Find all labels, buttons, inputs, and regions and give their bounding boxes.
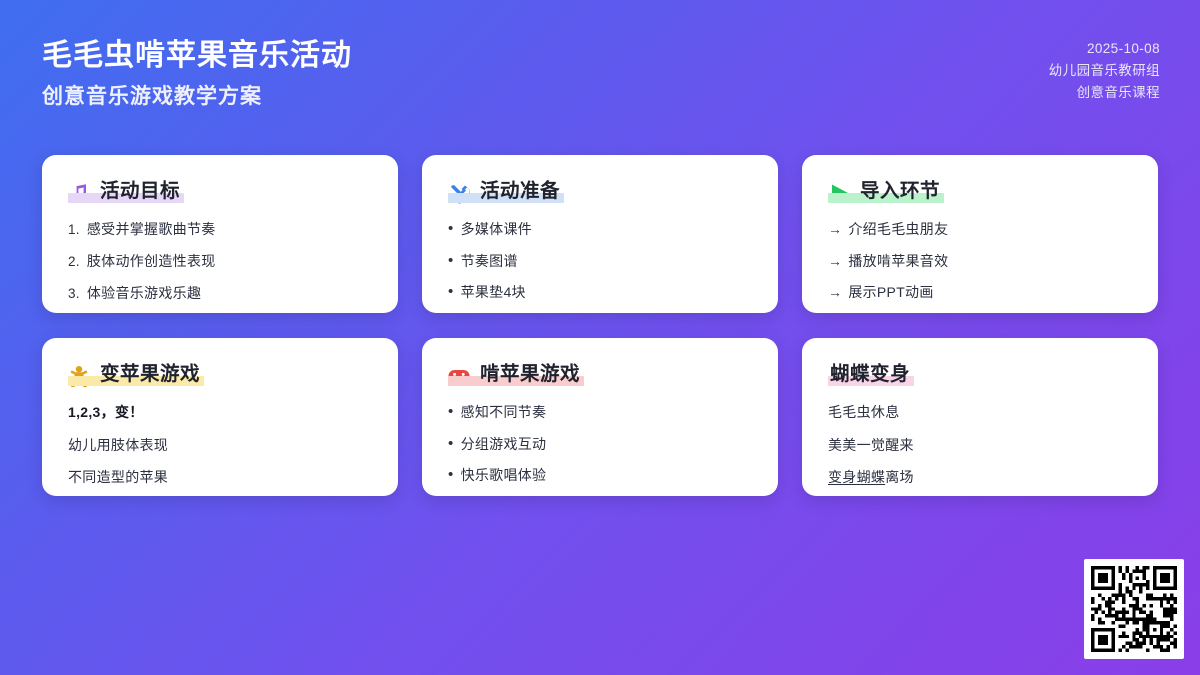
card-text-block: 1,2,3，变！幼儿用肢体表现不同造型的苹果 (68, 403, 372, 486)
card-title: 啃苹果游戏 (478, 364, 584, 387)
list-item: →播放啃苹果音效 (828, 252, 1132, 270)
meta-org: 幼儿园音乐教研组 (1049, 60, 1160, 82)
card-text-line: 幼儿用肢体表现 (68, 436, 372, 454)
card-header: 啃苹果游戏 (448, 364, 752, 387)
list-marker: 1. (68, 221, 80, 239)
card-title: 变苹果游戏 (98, 364, 204, 387)
slide-root: 毛毛虫啃苹果音乐活动 创意音乐游戏教学方案 2025-10-08 幼儿园音乐教研… (0, 0, 1200, 675)
list-item-label: 节奏图谱 (461, 252, 518, 270)
list-marker: → (828, 220, 842, 238)
list-marker: • (448, 284, 454, 299)
list-marker: • (448, 467, 454, 482)
list-marker: → (828, 252, 842, 270)
card-grid: 活动目标1.感受并掌握歌曲节奏2.肢体动作创造性表现3.体验音乐游戏乐趣活动准备… (42, 155, 1159, 496)
card-title-wrap: 导入环节 (828, 181, 944, 204)
list-item-label: 多媒体课件 (461, 220, 533, 238)
list-item: 1.感受并掌握歌曲节奏 (68, 220, 372, 239)
list-marker: 2. (68, 253, 80, 271)
card-title-wrap: 啃苹果游戏 (448, 364, 584, 387)
slide-header: 毛毛虫啃苹果音乐活动 创意音乐游戏教学方案 2025-10-08 幼儿园音乐教研… (0, 0, 1200, 140)
list-marker: 3. (68, 285, 80, 303)
card-text-line: 变身蝴蝶离场 (828, 468, 1132, 486)
card-header: 变苹果游戏 (68, 364, 372, 387)
card-header: 活动目标 (68, 181, 372, 204)
header-title-block: 毛毛虫啃苹果音乐活动 创意音乐游戏教学方案 (42, 34, 352, 109)
card-apple-transform-game[interactable]: 变苹果游戏1,2,3，变！幼儿用肢体表现不同造型的苹果 (42, 338, 398, 496)
list-item: •感知不同节奏 (448, 403, 752, 421)
card-title-wrap: 活动准备 (448, 181, 564, 204)
list-item-label: 展示PPT动画 (848, 283, 933, 301)
list-item: •节奏图谱 (448, 252, 752, 270)
meta-course: 创意音乐课程 (1049, 82, 1160, 104)
list-item: →展示PPT动画 (828, 283, 1132, 301)
list-item: •快乐歌唱体验 (448, 466, 752, 484)
card-header: 导入环节 (828, 181, 1132, 204)
card-bite-apple-game[interactable]: 啃苹果游戏•感知不同节奏•分组游戏互动•快乐歌唱体验 (422, 338, 778, 496)
card-activity-preparation[interactable]: 活动准备•多媒体课件•节奏图谱•苹果垫4块 (422, 155, 778, 313)
list-item: 2.肢体动作创造性表现 (68, 252, 372, 271)
card-list: 1.感受并掌握歌曲节奏2.肢体动作创造性表现3.体验音乐游戏乐趣 (68, 220, 372, 302)
card-text-line: 1,2,3，变！ (68, 403, 372, 421)
qr-code-image (1091, 566, 1177, 652)
list-marker: • (448, 253, 454, 268)
card-text-block: 毛毛虫休息美美一觉醒来变身蝴蝶离场 (828, 403, 1132, 486)
list-item-label: 快乐歌唱体验 (461, 466, 547, 484)
page-subtitle: 创意音乐游戏教学方案 (42, 84, 352, 109)
list-item: •苹果垫4块 (448, 283, 752, 301)
list-marker: → (828, 283, 842, 301)
page-title: 毛毛虫啃苹果音乐活动 (42, 38, 352, 75)
list-item: •多媒体课件 (448, 220, 752, 238)
list-item-label: 感受并掌握歌曲节奏 (87, 220, 216, 238)
list-item: •分组游戏互动 (448, 435, 752, 453)
qr-code[interactable] (1084, 559, 1184, 659)
list-item-label: 苹果垫4块 (461, 283, 526, 301)
list-item-label: 肢体动作创造性表现 (87, 252, 216, 270)
list-marker: • (448, 436, 454, 451)
card-header: 活动准备 (448, 181, 752, 204)
list-marker: • (448, 221, 454, 236)
list-item: →介绍毛毛虫朋友 (828, 220, 1132, 238)
underlined-text: 变身蝴蝶 (828, 469, 885, 485)
card-text-line: 毛毛虫休息 (828, 403, 1132, 421)
card-list: •多媒体课件•节奏图谱•苹果垫4块 (448, 220, 752, 301)
card-intro-section[interactable]: 导入环节→介绍毛毛虫朋友→播放啃苹果音效→展示PPT动画 (802, 155, 1158, 313)
card-title: 蝴蝶变身 (828, 364, 914, 387)
list-item-label: 体验音乐游戏乐趣 (87, 284, 201, 302)
card-activity-goals[interactable]: 活动目标1.感受并掌握歌曲节奏2.肢体动作创造性表现3.体验音乐游戏乐趣 (42, 155, 398, 313)
list-item-label: 感知不同节奏 (461, 403, 547, 421)
list-item-label: 播放啃苹果音效 (848, 252, 948, 270)
card-title-wrap: 活动目标 (68, 181, 184, 204)
card-text-line: 美美一觉醒来 (828, 436, 1132, 454)
card-list: •感知不同节奏•分组游戏互动•快乐歌唱体验 (448, 403, 752, 484)
card-title: 活动目标 (98, 181, 184, 204)
meta-date: 2025-10-08 (1049, 38, 1160, 60)
card-title: 导入环节 (858, 181, 944, 204)
list-item-label: 介绍毛毛虫朋友 (848, 220, 948, 238)
card-title: 活动准备 (478, 181, 564, 204)
card-title-wrap: 变苹果游戏 (68, 364, 204, 387)
card-text-line: 不同造型的苹果 (68, 468, 372, 486)
card-header: 蝴蝶变身 (828, 364, 1132, 387)
card-list: →介绍毛毛虫朋友→播放啃苹果音效→展示PPT动画 (828, 220, 1132, 301)
card-title-wrap: 蝴蝶变身 (828, 364, 914, 387)
card-butterfly-transform[interactable]: 蝴蝶变身毛毛虫休息美美一觉醒来变身蝴蝶离场 (802, 338, 1158, 496)
list-marker: • (448, 404, 454, 419)
header-meta: 2025-10-08 幼儿园音乐教研组 创意音乐课程 (1049, 34, 1160, 104)
list-item: 3.体验音乐游戏乐趣 (68, 284, 372, 303)
list-item-label: 分组游戏互动 (461, 435, 547, 453)
